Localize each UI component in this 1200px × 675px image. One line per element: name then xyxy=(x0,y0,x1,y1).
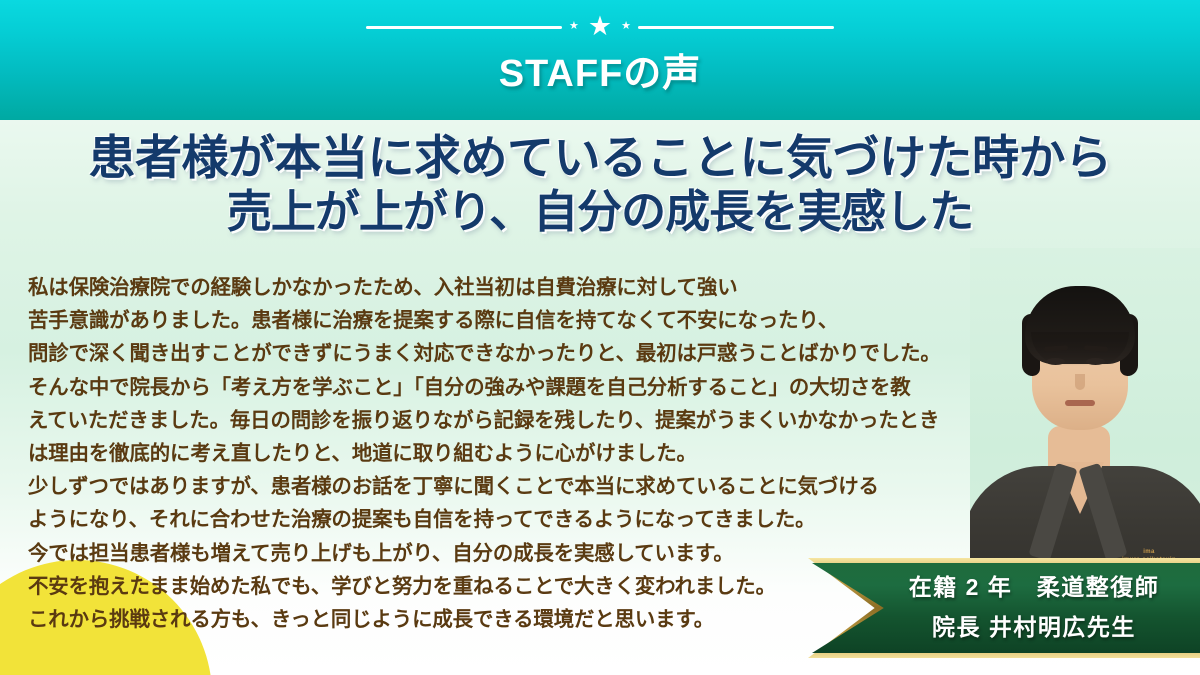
testimonial-slide: ★ ★ ★ STAFFの声 患者様が本当に求めていることに気づけた時から 売上が… xyxy=(0,0,1200,675)
portrait-mouth xyxy=(1065,400,1095,406)
body-line: は理由を徹底的に考え直したりと、地道に取り組むように心がけました。 xyxy=(28,438,978,471)
portrait-nose xyxy=(1075,374,1085,390)
body-line: ようになり、それに合わせた治療の提案も自信を持ってできるようになってきました。 xyxy=(28,504,978,537)
headline-line-1: 患者様が本当に求めていることに気づけた時から xyxy=(0,130,1200,185)
page-title: 患者様が本当に求めていることに気づけた時から 売上が上がり、自分の成長を実感した xyxy=(0,130,1200,239)
body-line: そんな中で院長から「考え方を学ぶこと」「自分の強みや課題を自己分析すること」の大… xyxy=(28,372,978,405)
body-line: 苦手意識がありました。患者様に治療を提案する際に自信を持てなくて不安になったり、 xyxy=(28,305,978,338)
uniform-logo-line-1: ima xyxy=(1118,548,1180,556)
star-small-right-icon: ★ xyxy=(621,21,631,32)
body-line: えていただきました。毎日の問診を振り返りながら記録を残したり、提案がうまくいかな… xyxy=(28,405,978,438)
staff-portrait-photo: ima imura seikotsuin Since 2014 xyxy=(970,248,1200,578)
portrait-eye-left xyxy=(1046,358,1065,365)
staff-name-ribbon: 在籍 2 年 柔道整復師 院長 井村明広先生 xyxy=(808,558,1200,658)
divider-line-left xyxy=(366,26,562,29)
divider-line-right xyxy=(638,26,834,29)
star-large-icon: ★ xyxy=(588,13,612,40)
ribbon-label: 在籍 2 年 柔道整復師 院長 井村明広先生 xyxy=(880,567,1188,647)
portrait-eye-right xyxy=(1086,358,1105,365)
headline-line-2: 売上が上がり、自分の成長を実感した xyxy=(0,185,1200,238)
star-small-left-icon: ★ xyxy=(569,21,579,32)
header-title: STAFFの声 xyxy=(0,55,1200,93)
body-line: 問診で深く聞き出すことができずにうまく対応できなかったりと、最初は戸惑うことばか… xyxy=(28,338,978,371)
ribbon-line-1: 在籍 2 年 柔道整復師 xyxy=(880,567,1188,607)
star-divider: ★ ★ ★ xyxy=(0,14,1200,40)
header-banner: ★ ★ ★ STAFFの声 xyxy=(0,0,1200,120)
ribbon-line-2: 院長 井村明広先生 xyxy=(880,607,1188,647)
body-line: 少しずつではありますが、患者様のお話を丁寧に聞くことで本当に求めていることに気づ… xyxy=(28,471,978,504)
body-line: 私は保険治療院での経験しかなかったため、入社当初は自費治療に対して強い xyxy=(28,272,978,305)
